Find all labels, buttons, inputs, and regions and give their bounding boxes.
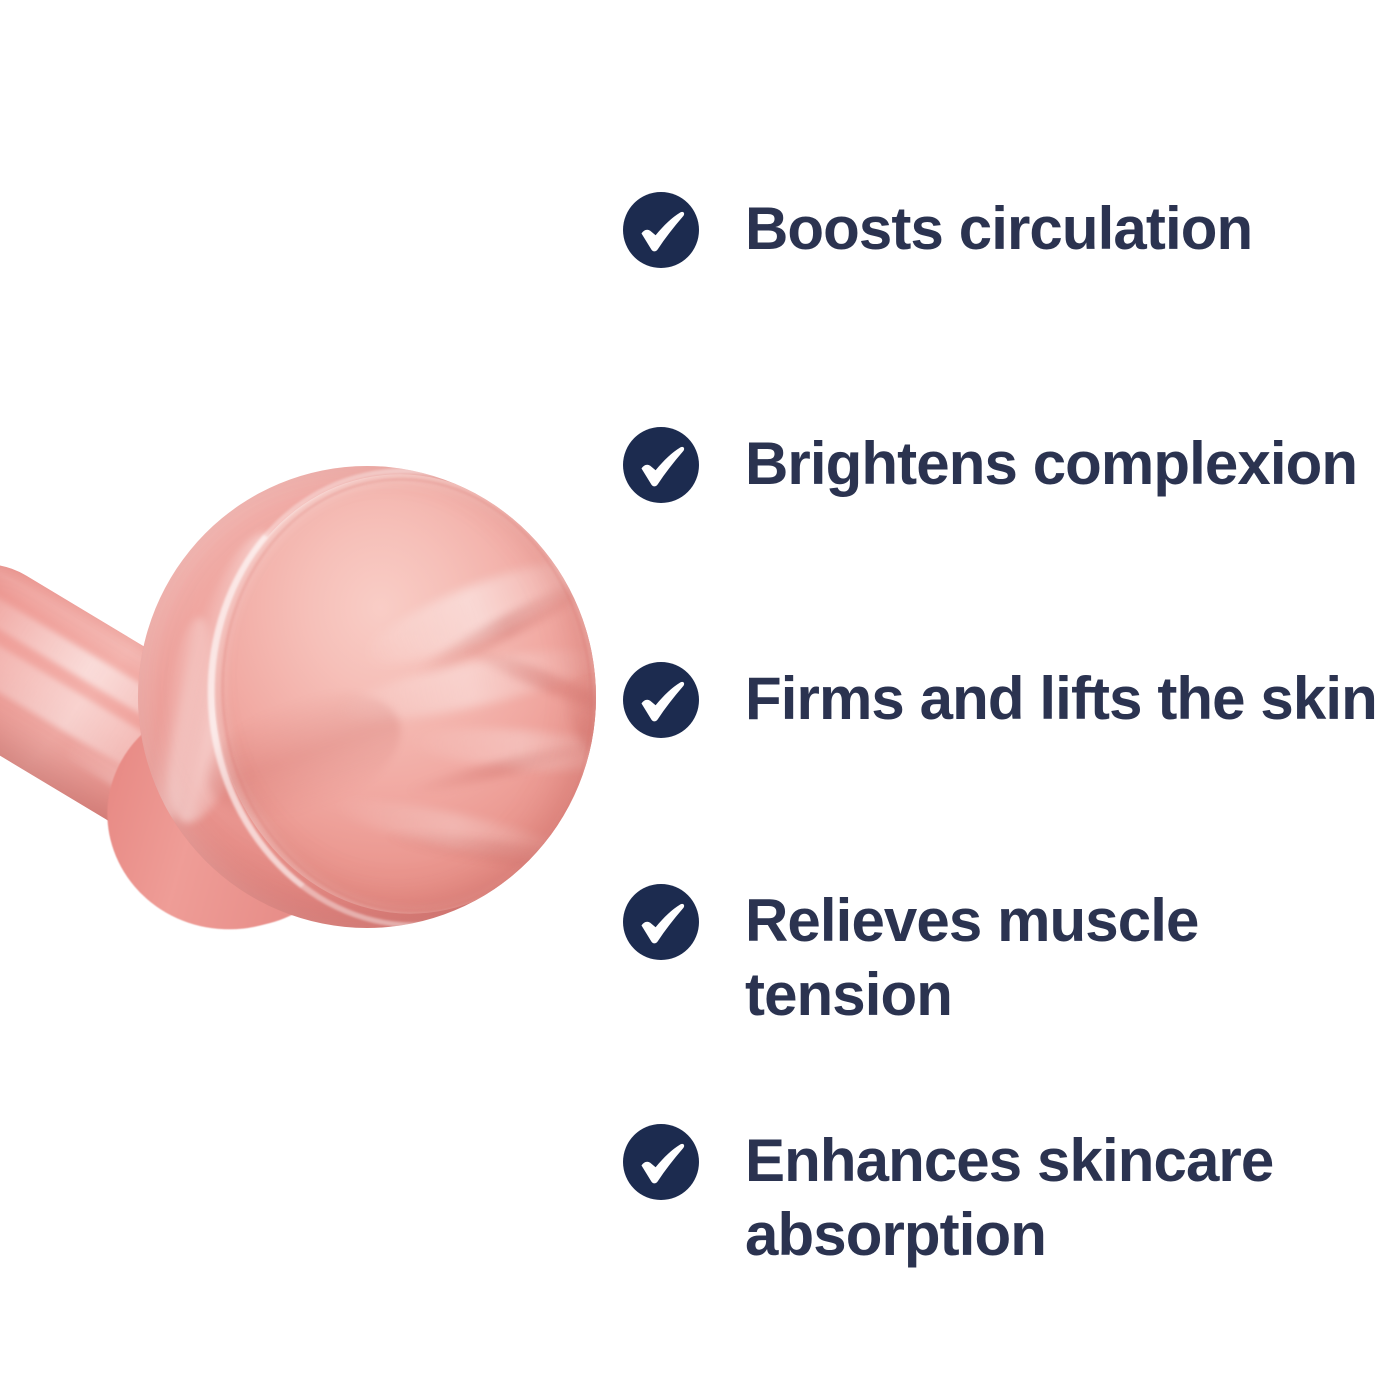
benefit-item-4: Relieves muscle tension bbox=[623, 884, 1383, 1032]
bowl-bezel-ring bbox=[185, 466, 596, 928]
benefit-label: Enhances skincare absorption bbox=[745, 1124, 1273, 1272]
benefit-label: Brightens complexion bbox=[745, 427, 1357, 501]
benefit-item-3: Firms and lifts the skin bbox=[623, 662, 1383, 738]
check-circle-icon bbox=[623, 192, 699, 268]
check-circle-icon bbox=[623, 1124, 699, 1200]
product-benefits-graphic: Boosts circulation Brightens complexion … bbox=[0, 0, 1400, 1400]
benefit-item-2: Brightens complexion bbox=[623, 427, 1383, 503]
check-circle-icon bbox=[623, 427, 699, 503]
benefit-item-1: Boosts circulation bbox=[623, 192, 1383, 268]
benefit-item-5: Enhances skincare absorption bbox=[623, 1124, 1383, 1272]
benefit-label: Relieves muscle tension bbox=[745, 884, 1198, 1032]
product-image bbox=[0, 0, 640, 1120]
check-circle-icon bbox=[623, 662, 699, 738]
benefit-label: Boosts circulation bbox=[745, 192, 1252, 266]
benefit-label: Firms and lifts the skin bbox=[745, 662, 1377, 736]
check-circle-icon bbox=[623, 884, 699, 960]
benefits-list: Boosts circulation Brightens complexion … bbox=[623, 0, 1383, 1400]
roller-dome-head bbox=[138, 466, 596, 928]
